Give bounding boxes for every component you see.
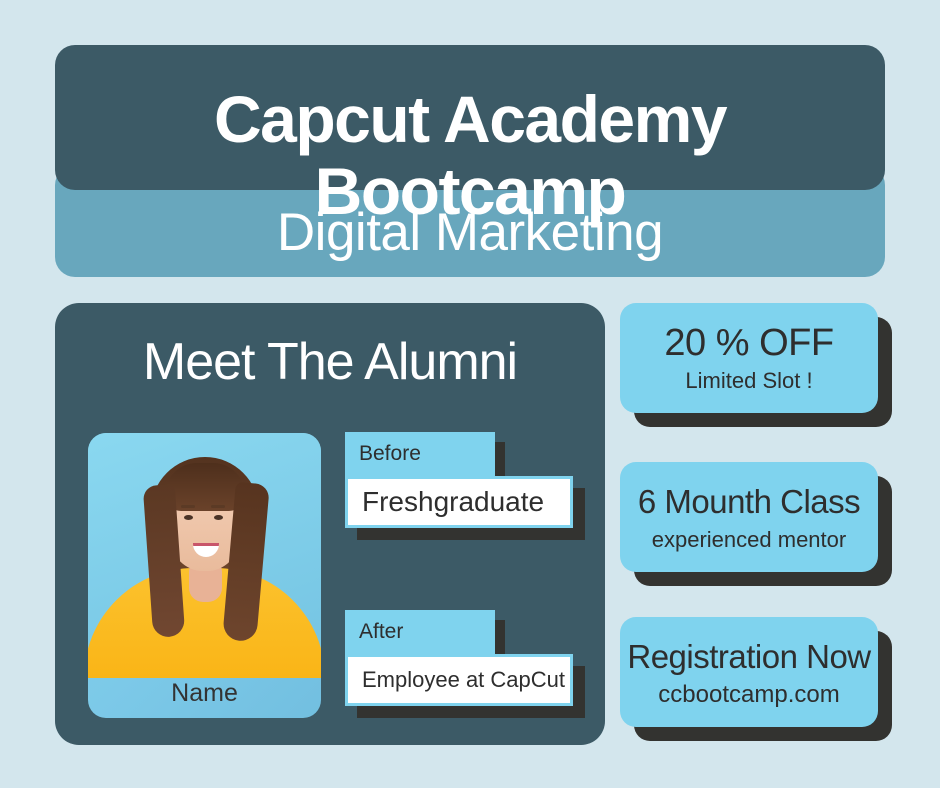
promo-card-register[interactable]: Registration Now ccbootcamp.com [620, 617, 878, 727]
after-value-text: Employee at CapCut [348, 666, 565, 694]
before-value-box: Freshgraduate [345, 476, 573, 528]
alumni-name-label: Name [88, 678, 321, 708]
after-tab: After [345, 610, 495, 654]
promo-duration-body[interactable]: 6 Mounth Class experienced mentor [620, 462, 878, 572]
promo-discount-title: 20 % OFF [664, 321, 833, 365]
promo-register-body[interactable]: Registration Now ccbootcamp.com [620, 617, 878, 727]
promo-register-website[interactable]: ccbootcamp.com [658, 681, 839, 709]
alumni-portrait-image [88, 433, 321, 678]
after-tab-label: After [359, 619, 403, 645]
portrait-eyebrow-left [181, 505, 195, 508]
before-value-text: Freshgraduate [348, 485, 544, 519]
poster-canvas: Digital Marketing Capcut Academy Bootcam… [0, 0, 940, 788]
promo-duration-title: 6 Mounth Class [638, 480, 860, 524]
alumni-photo-card: Name [88, 433, 321, 718]
before-tab: Before [345, 432, 495, 476]
portrait-eye-left [184, 515, 193, 520]
portrait-eye-right [214, 515, 223, 520]
promo-duration-subtitle: experienced mentor [652, 526, 846, 554]
page-title: Capcut Academy Bootcamp [55, 83, 885, 227]
alumni-heading: Meet The Alumni [55, 333, 605, 391]
promo-discount-subtitle: Limited Slot ! [685, 367, 812, 395]
after-group: After Employee at CapCut [345, 610, 605, 730]
promo-card-duration[interactable]: 6 Mounth Class experienced mentor [620, 462, 878, 572]
before-group: Before Freshgraduate [345, 432, 605, 552]
promo-register-title: Registration Now [627, 635, 870, 679]
promo-discount-body[interactable]: 20 % OFF Limited Slot ! [620, 303, 878, 413]
promo-card-discount[interactable]: 20 % OFF Limited Slot ! [620, 303, 878, 413]
portrait-eyebrow-right [211, 505, 225, 508]
title-card: Capcut Academy Bootcamp [55, 45, 885, 190]
after-value-box: Employee at CapCut [345, 654, 573, 706]
before-tab-label: Before [359, 441, 421, 467]
